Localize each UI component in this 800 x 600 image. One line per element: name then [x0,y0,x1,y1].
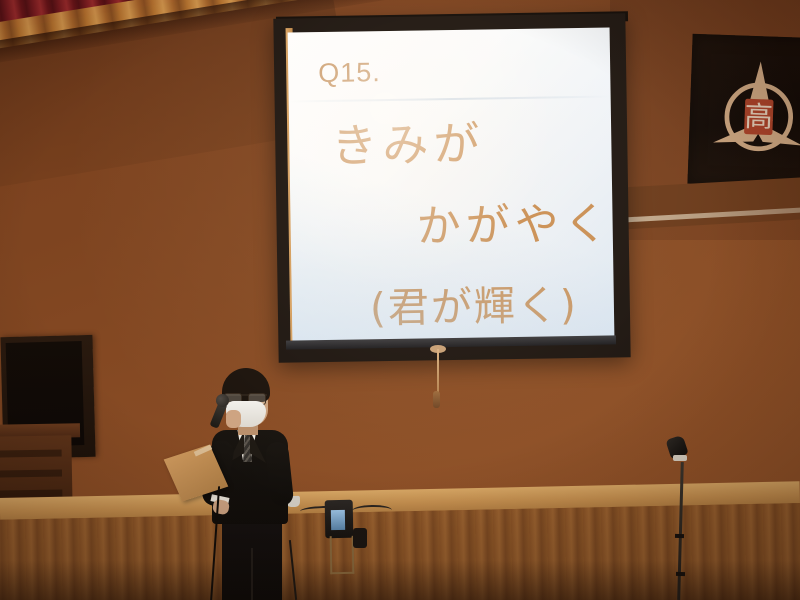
screen-pull-knob[interactable] [433,391,440,408]
school-emblem-icon: 高 [698,50,800,172]
slide-content: Q15. きみが かがやく (君が輝く) [288,27,615,342]
microphone-stand-clip [673,455,687,461]
lectern-slat [0,469,62,477]
monitor-stand [330,536,355,574]
microphone-stand-joint [676,572,685,576]
stage-dark-object [353,528,367,548]
emblem-kanji: 高 [744,100,773,134]
slide-line-3: (君が輝く) [369,271,578,334]
slide-line-1: きみが [331,107,485,175]
screen-pull-cord[interactable] [437,349,439,395]
microphone-stand-joint [675,534,684,538]
lectern-slat [0,449,62,457]
slide-question-number: Q15. [318,57,381,89]
photo-scene: 高 Q15. きみが かがやく (君が輝く) [0,0,800,600]
monitor-display [331,510,345,530]
speaker-hand-right [226,410,241,428]
slide-line-2: かがやく [416,187,613,254]
speaker-person [186,368,316,600]
microphone-head-icon [216,394,229,407]
projection-screen-surface: Q15. きみが かがやく (君が輝く) [288,27,615,342]
speaker-leg-seam [251,548,253,600]
